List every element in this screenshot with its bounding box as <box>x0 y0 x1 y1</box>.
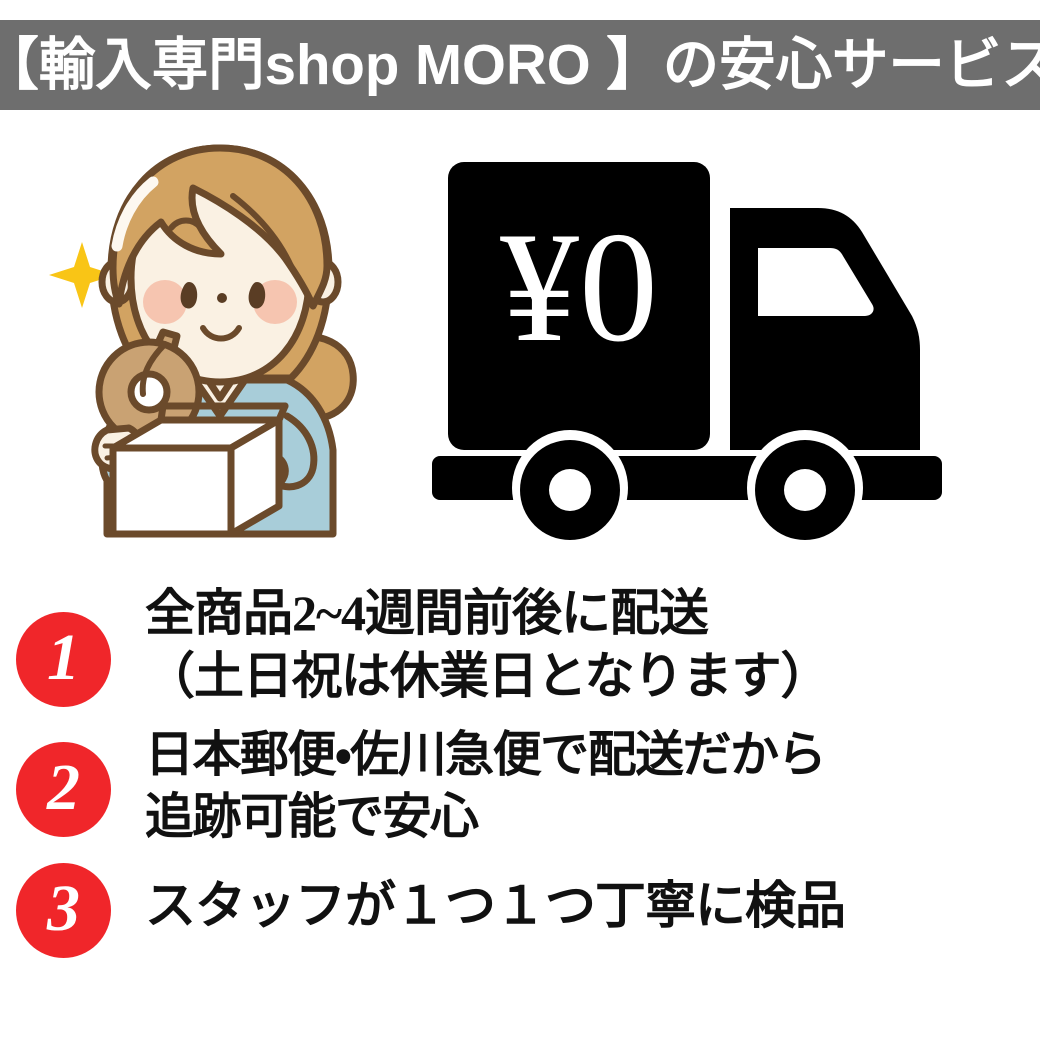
packing-staff-icon <box>45 130 395 550</box>
point-number-badge-2: 2 <box>16 742 111 837</box>
illustration-area: ¥0 <box>0 120 1040 550</box>
list-item: 1 全商品2~4週間前後に配送 （土日祝は休業日となります） <box>0 582 1040 708</box>
point-number-badge-1: 1 <box>16 612 111 707</box>
truck-price-label: ¥0 <box>500 200 658 375</box>
page-title: 【輸入専門shop MORO 】の安心サービス <box>0 37 1040 94</box>
list-item: 2 日本郵便・佐川急便で配送だから 追跡可能で安心 <box>0 724 1040 847</box>
packing-staff-illustration <box>45 130 395 550</box>
free-shipping-truck-illustration: ¥0 <box>420 140 1020 540</box>
header-band: 【輸入専門shop MORO 】の安心サービス <box>0 20 1040 110</box>
free-shipping-truck-icon: ¥0 <box>420 140 1020 540</box>
point-number-badge-3: 3 <box>16 863 111 958</box>
list-item: 3 スタッフが１つ１つ丁寧に検品 <box>0 863 1040 958</box>
point-text-3: スタッフが１つ１つ丁寧に検品 <box>111 863 1040 939</box>
point-text-1: 全商品2~4週間前後に配送 （土日祝は休業日となります） <box>111 582 1040 708</box>
service-points-list: 1 全商品2~4週間前後に配送 （土日祝は休業日となります） 2 日本郵便・佐川… <box>0 552 1040 958</box>
point-text-2: 日本郵便・佐川急便で配送だから 追跡可能で安心 <box>111 724 1040 847</box>
